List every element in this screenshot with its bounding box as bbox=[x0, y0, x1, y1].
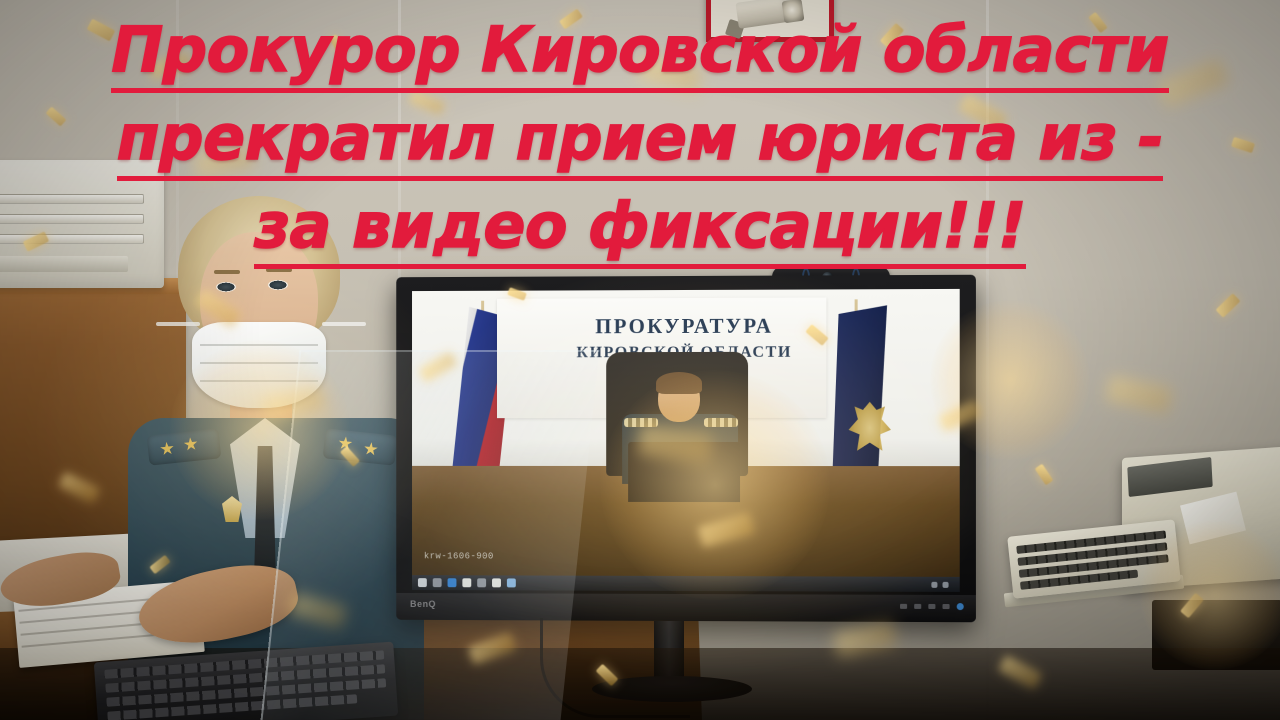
printer-tray bbox=[0, 194, 144, 204]
laptop bbox=[628, 442, 740, 502]
acrylic-barrier bbox=[261, 350, 600, 720]
printer-output-slot bbox=[0, 256, 128, 272]
shoulder-board bbox=[704, 418, 738, 427]
monitor-up-button[interactable] bbox=[928, 604, 935, 609]
monitor-down-button[interactable] bbox=[914, 604, 921, 609]
mask-strap bbox=[322, 322, 366, 326]
eyebrow bbox=[214, 270, 240, 274]
monitor-power-button[interactable] bbox=[957, 603, 964, 610]
system-tray[interactable] bbox=[931, 581, 953, 587]
eye bbox=[216, 282, 236, 292]
tray-icon[interactable] bbox=[931, 581, 937, 587]
monitor-menu-button[interactable] bbox=[900, 604, 907, 609]
mask-strap bbox=[156, 322, 200, 326]
shoulder-board bbox=[624, 418, 658, 427]
printer-tray bbox=[0, 214, 144, 224]
monitor-buttons[interactable] bbox=[900, 603, 964, 610]
hair bbox=[656, 372, 702, 394]
tray-icon[interactable] bbox=[942, 581, 948, 587]
wall-seam bbox=[986, 0, 989, 720]
sign-title: ПРОКУРАТУРА bbox=[412, 313, 960, 340]
monitor-enter-button[interactable] bbox=[942, 604, 949, 609]
eye bbox=[268, 280, 288, 290]
surveillance-camera-poster bbox=[706, 0, 834, 42]
printer-tray bbox=[0, 234, 144, 244]
camera-lens-icon bbox=[782, 0, 805, 23]
eyebrow bbox=[266, 268, 292, 272]
video-frame: ПРОКУРАТУРА КИРОВСКОЙ ОБЛАСТИ krw-1606-9… bbox=[0, 0, 1280, 720]
